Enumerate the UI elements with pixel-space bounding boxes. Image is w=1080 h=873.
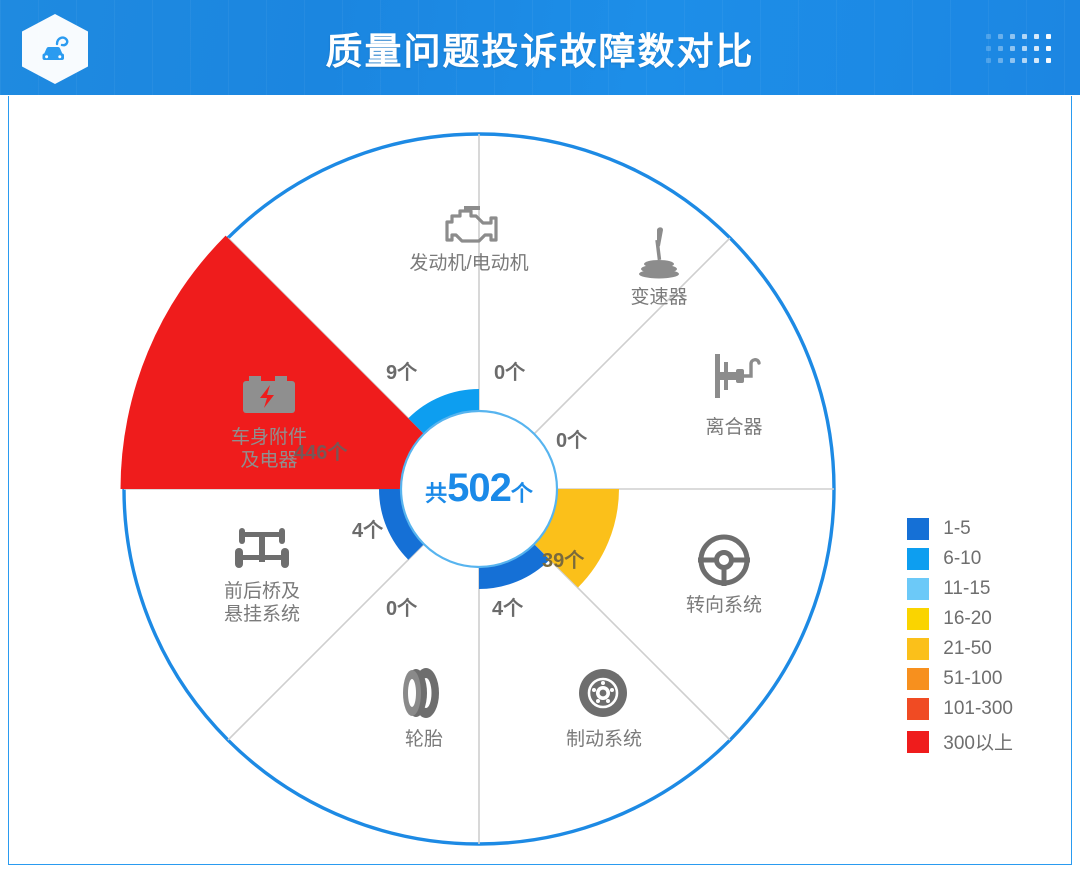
value-axle-suspension: 4个	[352, 514, 383, 543]
legend-item[interactable]: 11-15	[907, 578, 1013, 600]
legend-swatch	[907, 731, 929, 753]
quality-complaint-pie-chart: 发动机/电动机 变速器	[114, 124, 844, 854]
legend-item[interactable]: 300以上	[907, 728, 1013, 755]
legend-item[interactable]: 21-50	[907, 638, 1013, 660]
legend-item[interactable]: 51-100	[907, 668, 1013, 690]
legend-item[interactable]: 1-5	[907, 518, 1013, 540]
car-inspection-icon	[37, 32, 73, 66]
legend-swatch	[907, 578, 929, 600]
chart-legend: 1-5 6-10 11-15 16-20 21-50 51-100	[907, 518, 1013, 755]
legend-swatch	[907, 698, 929, 720]
page-root: 质量问题投诉故障数对比	[0, 0, 1080, 873]
chart-center-total: 共502个	[389, 466, 569, 511]
legend-label: 51-100	[943, 668, 1002, 690]
legend-swatch	[907, 518, 929, 540]
legend-item[interactable]: 16-20	[907, 608, 1013, 630]
legend-swatch	[907, 548, 929, 570]
value-tire: 0个	[386, 592, 417, 621]
legend-label: 101-300	[943, 698, 1013, 720]
content-panel: 发动机/电动机 变速器	[8, 96, 1072, 865]
legend-label: 16-20	[943, 608, 992, 630]
total-suffix: 个	[511, 481, 533, 506]
value-transmission: 0个	[494, 356, 525, 385]
legend-item[interactable]: 101-300	[907, 698, 1013, 720]
legend-swatch	[907, 668, 929, 690]
legend-label: 21-50	[943, 638, 992, 660]
legend-label: 6-10	[943, 548, 981, 570]
legend-label: 11-15	[943, 578, 990, 600]
value-steering: 39个	[542, 544, 584, 573]
page-title: 质量问题投诉故障数对比	[0, 0, 1080, 95]
header-dot-pattern	[982, 30, 1054, 66]
legend-item[interactable]: 6-10	[907, 548, 1013, 570]
legend-swatch	[907, 638, 929, 660]
value-clutch: 0个	[556, 424, 587, 453]
total-value: 502	[447, 466, 511, 510]
value-brake: 4个	[492, 592, 523, 621]
total-prefix: 共	[425, 481, 447, 506]
legend-label: 1-5	[943, 518, 970, 540]
legend-label: 300以上	[943, 728, 1013, 755]
value-engine: 9个	[386, 356, 417, 385]
value-body-electrical: 446个	[294, 436, 347, 465]
legend-swatch	[907, 608, 929, 630]
page-header: 质量问题投诉故障数对比	[0, 0, 1080, 95]
